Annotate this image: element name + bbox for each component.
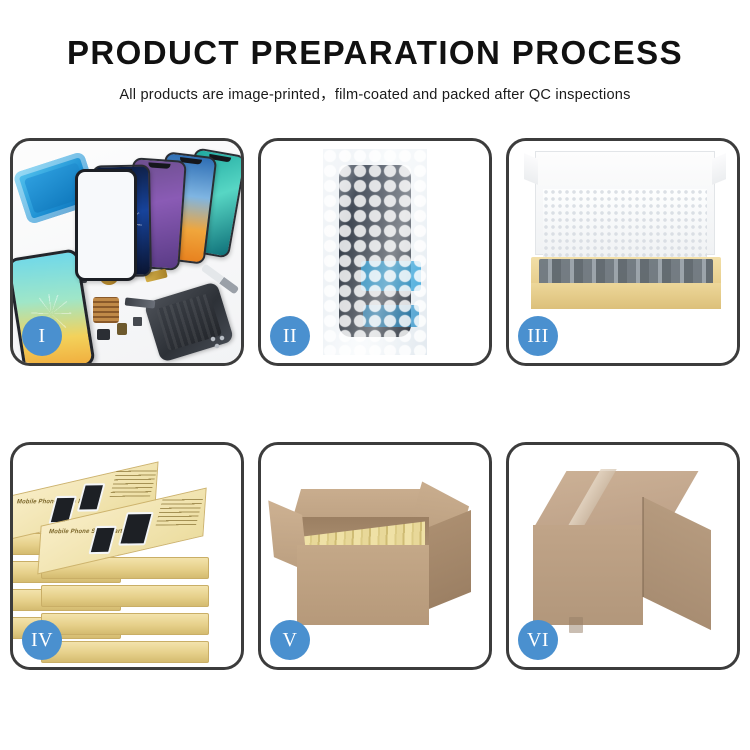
step-badge-6: VI: [518, 620, 558, 660]
camera-module-part: [97, 329, 110, 340]
carton-front-panel: [297, 545, 429, 625]
box-art-textlines: [110, 469, 158, 497]
foam-sheet: [543, 189, 707, 263]
vibrator-part: [117, 323, 127, 335]
box-art-screen: [118, 512, 154, 546]
carton-handle-tab: [569, 617, 583, 633]
process-step-1: I: [10, 138, 244, 366]
flex-cable-dark: [125, 297, 156, 308]
page-subtitle: All products are image-printed，film-coat…: [0, 83, 750, 104]
step-badge-2: II: [270, 316, 310, 356]
infographic-page: PRODUCT PREPARATION PROCESS All products…: [0, 0, 750, 750]
kraft-box-front: [531, 283, 721, 309]
process-step-grid: I II: [10, 138, 742, 670]
process-step-2: II: [258, 138, 492, 366]
phone-back-housing: [144, 281, 235, 363]
carton-side-panel: [429, 510, 471, 609]
process-step-4: Mobile Phone Spare Parts Mobile Phone Sp…: [10, 442, 244, 670]
mesh-grid-part: [93, 297, 119, 323]
step-badge-5: V: [270, 620, 310, 660]
box-art-textlines: [156, 498, 204, 526]
box-stack-item: [41, 585, 209, 607]
step-badge-1: I: [22, 316, 62, 356]
box-stack-item: [41, 641, 209, 663]
box-stack-item: [41, 613, 209, 635]
phone-notch-icon: [148, 162, 170, 169]
carton-right-panel: [643, 497, 711, 630]
page-title: PRODUCT PREPARATION PROCESS: [0, 34, 750, 72]
carton-edge-seam: [642, 497, 644, 597]
box-art-screen: [77, 483, 106, 511]
header: PRODUCT PREPARATION PROCESS All products…: [0, 0, 750, 104]
step-badge-4: IV: [22, 620, 62, 660]
step-badge-3: III: [518, 316, 558, 356]
bubble-wrap-sleeve: [323, 149, 427, 355]
carton-front-panel: [533, 525, 643, 625]
process-step-6: VI: [506, 442, 740, 670]
wrapped-parts-row: [539, 259, 713, 285]
process-step-5: V: [258, 442, 492, 670]
screen-protector-glass: [75, 169, 137, 281]
plastic-sheen: [323, 149, 427, 355]
process-step-3: III: [506, 138, 740, 366]
chip-part: [133, 317, 142, 326]
screws-group: [209, 335, 231, 349]
